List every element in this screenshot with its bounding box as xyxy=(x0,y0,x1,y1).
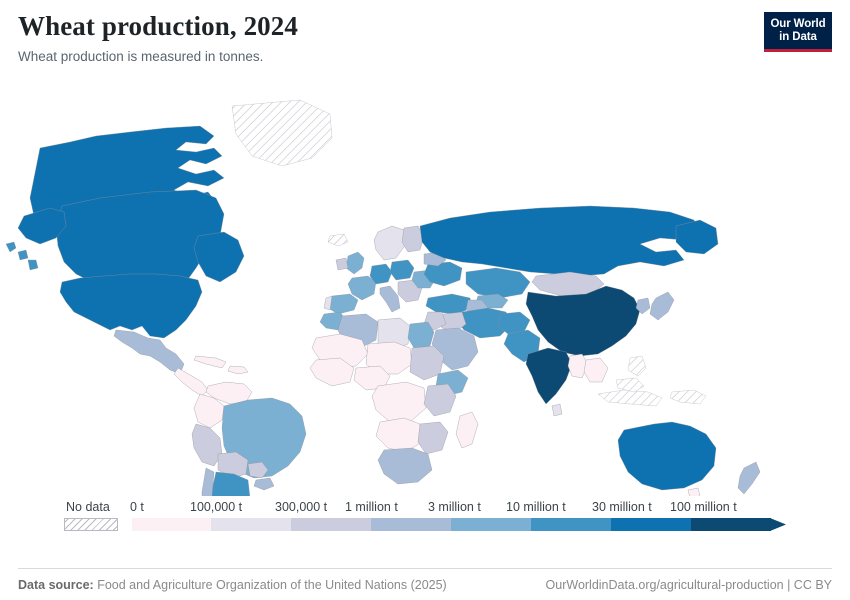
world-map[interactable] xyxy=(0,86,850,496)
legend-swatch-bin-0[interactable] xyxy=(132,518,211,531)
country-ireland[interactable] xyxy=(336,258,348,270)
chart-footer: Data source: Food and Agriculture Organi… xyxy=(18,568,832,592)
country-drc[interactable] xyxy=(372,382,426,422)
country-spain[interactable] xyxy=(328,294,358,314)
country-egypt[interactable] xyxy=(408,322,434,348)
country-argentina[interactable] xyxy=(210,472,250,496)
legend-labels: No data 0 t 100,000 t 300,000 t 1 millio… xyxy=(0,500,850,516)
country-sri-lanka[interactable] xyxy=(552,404,562,416)
legend-swatch-bin-6[interactable] xyxy=(611,518,691,531)
footer-source: Data source: Food and Agriculture Organi… xyxy=(18,578,447,592)
legend-swatch-bin-1[interactable] xyxy=(211,518,291,531)
legend-tick-4: 3 million t xyxy=(428,500,481,514)
logo-line-2: in Data xyxy=(779,31,817,44)
country-iceland[interactable] xyxy=(328,234,348,246)
country-russia[interactable] xyxy=(420,206,700,276)
legend-swatch-bin-7[interactable] xyxy=(691,518,771,531)
country-india[interactable] xyxy=(526,348,572,404)
country-poland[interactable] xyxy=(390,260,414,280)
page-subtitle: Wheat production is measured in tonnes. xyxy=(18,48,832,65)
country-kazakhstan[interactable] xyxy=(466,268,530,298)
page-title: Wheat production, 2024 xyxy=(18,10,832,42)
map-countries xyxy=(6,100,760,496)
country-united-kingdom[interactable] xyxy=(346,252,364,274)
country-japan[interactable] xyxy=(650,292,674,320)
legend-swatch-bin-5[interactable] xyxy=(531,518,611,531)
legend-swatch-bin-3[interactable] xyxy=(371,518,451,531)
legend-tick-0: 0 t xyxy=(130,500,144,514)
legend-swatch-bin-2[interactable] xyxy=(291,518,371,531)
legend-nodata-label: No data xyxy=(66,500,110,514)
country-south-africa[interactable] xyxy=(378,448,432,484)
country-thailand-indochina[interactable] xyxy=(584,358,608,382)
country-pacific-islands[interactable] xyxy=(6,242,38,270)
legend-tick-7: 100 million t xyxy=(670,500,737,514)
country-tasmania[interactable] xyxy=(688,488,700,496)
country-china[interactable] xyxy=(526,286,640,356)
map-legend: No data 0 t 100,000 t 300,000 t 1 millio… xyxy=(0,500,850,548)
country-new-zealand[interactable] xyxy=(738,462,760,494)
country-angola-zambia[interactable] xyxy=(376,418,422,452)
chart-header: Wheat production, 2024 Wheat production … xyxy=(18,10,832,65)
country-turkey[interactable] xyxy=(426,294,472,314)
legend-tick-3: 1 million t xyxy=(345,500,398,514)
country-cuba[interactable] xyxy=(194,356,226,368)
country-png[interactable] xyxy=(670,390,706,404)
legend-tick-2: 300,000 t xyxy=(275,500,327,514)
footer-attribution[interactable]: OurWorldinData.org/agricultural-producti… xyxy=(546,578,832,592)
logo-line-1: Our World xyxy=(770,18,825,31)
country-zimbabwe-mozambique[interactable] xyxy=(418,422,448,454)
chart-page: Wheat production, 2024 Wheat production … xyxy=(0,0,850,600)
country-peru[interactable] xyxy=(192,424,222,466)
footer-source-label: Data source: xyxy=(18,578,94,592)
country-madagascar[interactable] xyxy=(456,412,478,448)
country-indonesia[interactable] xyxy=(598,390,662,406)
footer-source-text: Food and Agriculture Organization of the… xyxy=(94,578,447,592)
country-hispaniola[interactable] xyxy=(228,366,248,374)
country-russia-far-east[interactable] xyxy=(676,220,718,254)
legend-tick-1: 100,000 t xyxy=(190,500,242,514)
legend-tick-5: 10 million t xyxy=(506,500,566,514)
legend-swatch-bin-4[interactable] xyxy=(451,518,531,531)
legend-swatch-nodata[interactable] xyxy=(64,518,118,531)
map-svg[interactable] xyxy=(0,86,850,496)
country-scandinavia[interactable] xyxy=(374,226,406,260)
country-uruguay[interactable] xyxy=(254,478,274,490)
country-mexico[interactable] xyxy=(114,330,184,374)
country-united-states[interactable] xyxy=(60,274,202,338)
country-philippines[interactable] xyxy=(628,356,646,376)
country-australia[interactable] xyxy=(618,422,716,490)
logo-accent-bar xyxy=(764,49,832,52)
country-greenland[interactable] xyxy=(232,100,332,166)
country-kenya-tanzania[interactable] xyxy=(424,384,456,416)
legend-tick-6: 30 million t xyxy=(592,500,652,514)
country-borneo[interactable] xyxy=(616,378,644,392)
country-italy[interactable] xyxy=(380,286,400,312)
legend-color-bar[interactable] xyxy=(0,518,850,531)
country-central-america[interactable] xyxy=(174,368,208,396)
legend-end-arrow xyxy=(770,518,786,531)
owid-logo[interactable]: Our World in Data xyxy=(764,12,832,52)
country-canada-east[interactable] xyxy=(194,232,244,282)
